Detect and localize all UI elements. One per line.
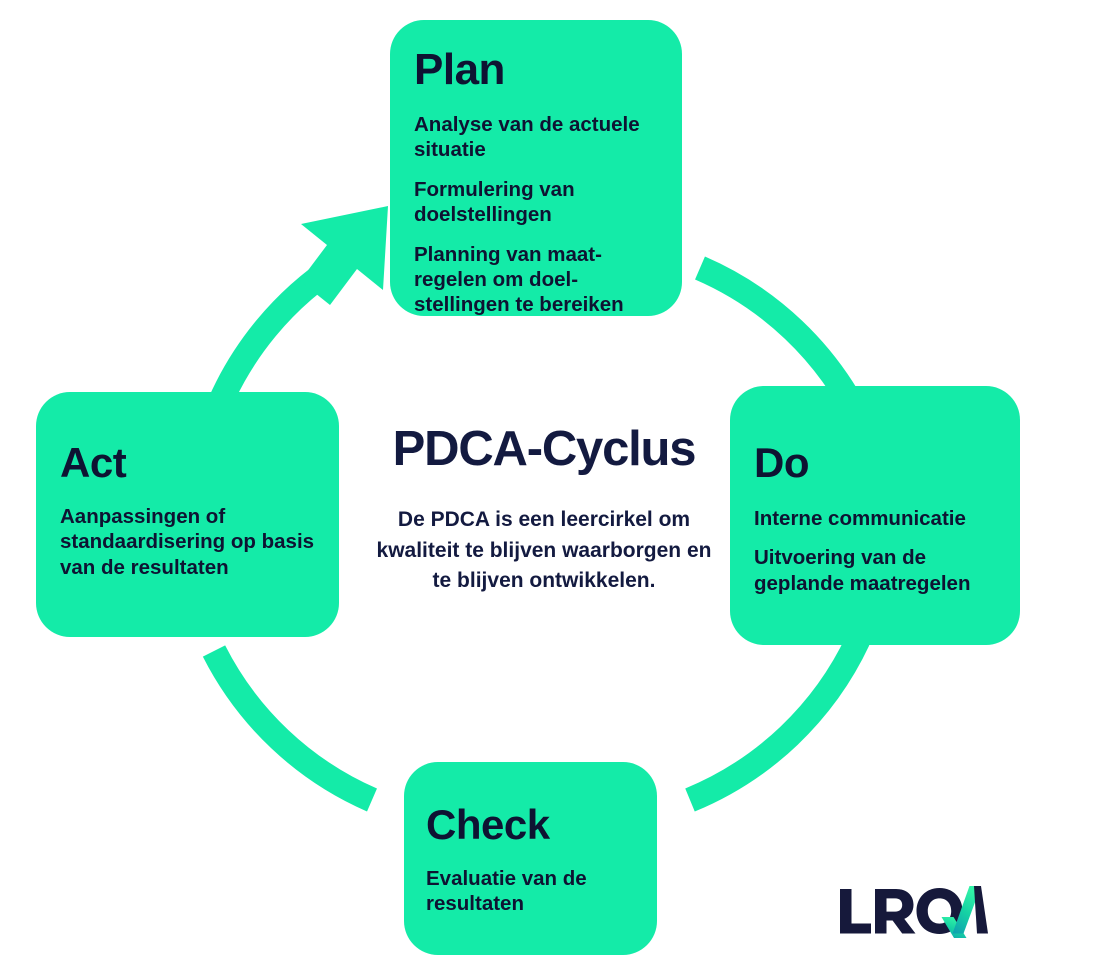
- stage-item: Aanpassingen of standaardisering op basi…: [60, 504, 325, 580]
- logo-letter-r: [875, 889, 916, 934]
- diagram-description: De PDCA is een leercirkel om kwaliteit t…: [344, 505, 744, 596]
- stage-card-do[interactable]: Do Interne communicatie Uitvoering van d…: [730, 386, 1020, 645]
- stage-items-check: Evaluatie van de resultaten: [426, 866, 643, 917]
- stage-item: Planning van maat-regelen om doel-stelli…: [414, 242, 656, 318]
- diagram-title: PDCA-Cyclus: [344, 424, 744, 475]
- stage-item: Evaluatie van de resultaten: [426, 866, 643, 917]
- stage-card-check[interactable]: Check Evaluatie van de resultaten: [404, 762, 657, 955]
- stage-card-act[interactable]: Act Aanpassingen of standaardisering op …: [36, 392, 339, 637]
- lrqa-logo: [838, 886, 988, 938]
- stage-title-act: Act: [60, 442, 325, 484]
- stage-item: Analyse van de actuele situatie: [414, 112, 656, 163]
- stage-title-do: Do: [754, 442, 1002, 484]
- logo-letter-l: [840, 889, 871, 934]
- stage-items-do: Interne communicatie Uitvoering van de g…: [754, 506, 1002, 596]
- logo-letter-a-right: [974, 886, 988, 934]
- pdca-diagram: Plan Analyse van de actuele situatie For…: [0, 0, 1108, 977]
- arc-do-to-check: [690, 640, 858, 800]
- stage-title-plan: Plan: [414, 48, 656, 92]
- cycle-arrow-icon: [300, 206, 388, 305]
- stage-item: Formulering van doelstellingen: [414, 177, 656, 228]
- stage-item: Interne communicatie: [754, 506, 1002, 531]
- stage-items-act: Aanpassingen of standaardisering op basi…: [60, 504, 325, 580]
- stage-title-check: Check: [426, 804, 643, 846]
- arc-check-to-act: [214, 651, 372, 800]
- diagram-centre: PDCA-Cyclus De PDCA is een leercirkel om…: [344, 424, 744, 596]
- stage-card-plan[interactable]: Plan Analyse van de actuele situatie For…: [390, 20, 682, 316]
- stage-items-plan: Analyse van de actuele situatie Formuler…: [414, 112, 656, 318]
- stage-item: Uitvoering van de geplande maatregelen: [754, 545, 1002, 596]
